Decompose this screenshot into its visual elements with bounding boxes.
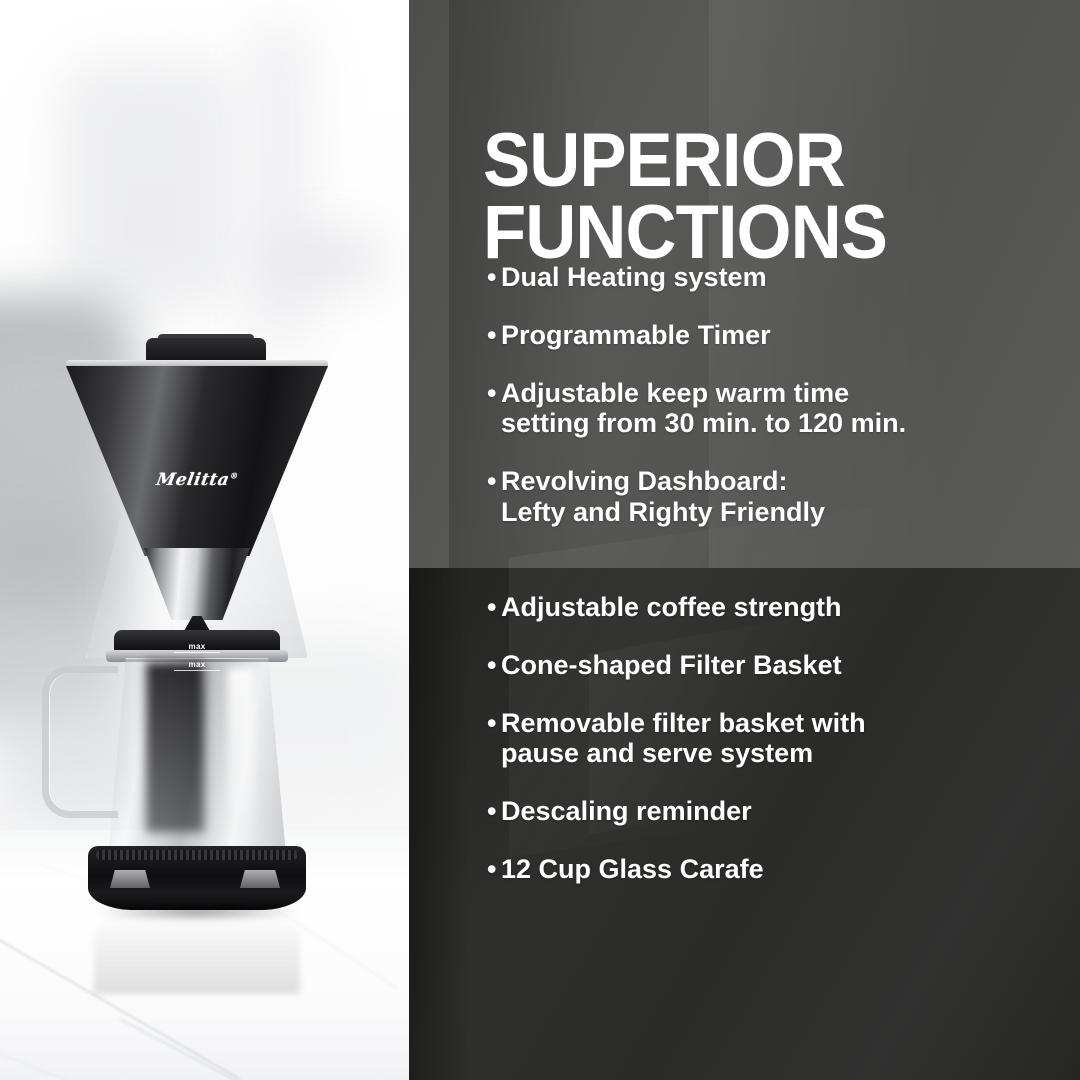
- list-item-label: Descaling reminder: [501, 796, 1080, 827]
- bullet-icon: •: [487, 854, 501, 885]
- carafe-max-label: max: [189, 642, 206, 651]
- list-item-label: Dual Heating system: [501, 262, 1080, 293]
- list-item: • Programmable Timer: [487, 320, 1080, 351]
- feature-list-primary: • Dual Heating system • Programmable Tim…: [487, 262, 1080, 555]
- dashboard-control-left: [110, 870, 150, 888]
- kitchen-background-blur: [265, 230, 385, 290]
- cone-shaped-filter-basket: [66, 366, 328, 556]
- list-item-label: Revolving Dashboard: Lefty and Righty Fr…: [501, 466, 1080, 528]
- list-item: • Removable filter basket with pause and…: [487, 708, 1080, 770]
- product-photo-panel: Melitta® max max: [0, 0, 409, 1080]
- carafe-handle: [42, 666, 118, 818]
- page-title: SUPERIOR FUNCTIONS: [483, 125, 1022, 269]
- kitchen-background-blur: [250, 20, 310, 350]
- page-title-line-2: FUNCTIONS: [483, 197, 1022, 269]
- list-item-label: Programmable Timer: [501, 320, 1080, 351]
- carafe-level-rule: [174, 670, 220, 671]
- list-item-label: Adjustable coffee strength: [501, 592, 1080, 623]
- carafe-level-rule: [174, 652, 220, 653]
- bullet-icon: •: [487, 466, 501, 497]
- bullet-icon: •: [487, 378, 501, 409]
- carafe-max-mark-lower: max: [174, 660, 220, 671]
- carafe-inner-shadow: [146, 662, 204, 832]
- list-item: • Descaling reminder: [487, 796, 1080, 827]
- product-feature-poster: Melitta® max max: [0, 0, 1080, 1080]
- bullet-icon: •: [487, 650, 501, 681]
- bullet-icon: •: [487, 796, 501, 827]
- list-item: • 12 Cup Glass Carafe: [487, 854, 1080, 885]
- carafe-max-mark-upper: max: [174, 642, 220, 653]
- list-item-label: Cone-shaped Filter Basket: [501, 650, 1080, 681]
- bullet-icon: •: [487, 262, 501, 293]
- product-melitta-logo-text: Melitta: [155, 470, 231, 490]
- list-item-label: 12 Cup Glass Carafe: [501, 854, 1080, 885]
- features-text-panel: SUPERIOR FUNCTIONS • Dual Heating system…: [409, 0, 1080, 1080]
- dashboard-control-right: [240, 870, 280, 888]
- bullet-icon: •: [487, 708, 501, 739]
- list-item: • Adjustable coffee strength: [487, 592, 1080, 623]
- base-reflection: [94, 914, 300, 994]
- kitchen-background-blur: [60, 60, 240, 310]
- list-item: • Dual Heating system: [487, 262, 1080, 293]
- base-ridge-ring: [96, 850, 298, 860]
- marble-vein: [120, 1018, 409, 1080]
- panel-shading: [409, 568, 469, 1080]
- list-item: • Adjustable keep warm time setting from…: [487, 378, 1080, 440]
- list-item: • Revolving Dashboard: Lefty and Righty …: [487, 466, 1080, 528]
- feature-list-secondary: • Adjustable coffee strength • Cone-shap…: [487, 592, 1080, 912]
- registered-mark-icon: ®: [229, 470, 239, 480]
- product-melitta-logo: Melitta®: [154, 470, 249, 496]
- list-item: • Cone-shaped Filter Basket: [487, 650, 1080, 681]
- list-item-label: Removable filter basket with pause and s…: [501, 708, 1080, 770]
- coffee-maker-product-image: Melitta® max max: [28, 330, 358, 930]
- bullet-icon: •: [487, 320, 501, 351]
- marble-vein: [0, 1049, 176, 1080]
- list-item-label: Adjustable keep warm time setting from 3…: [501, 378, 1080, 440]
- carafe-max-label: max: [189, 660, 206, 669]
- carafe-highlight: [228, 668, 254, 848]
- bullet-icon: •: [487, 592, 501, 623]
